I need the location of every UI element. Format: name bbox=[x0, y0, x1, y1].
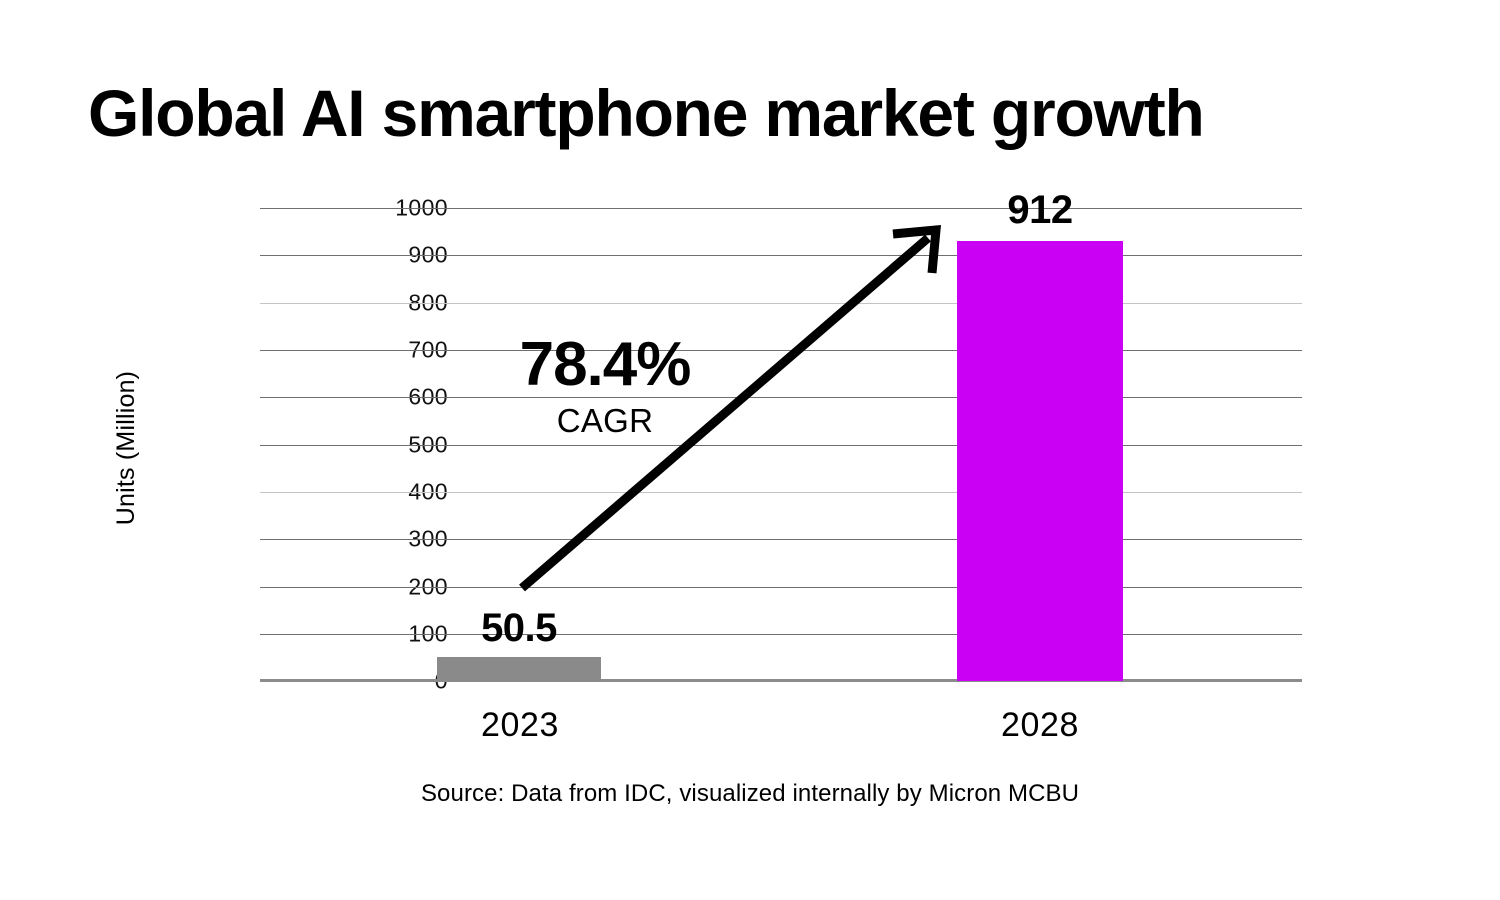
gridline-800 bbox=[260, 303, 1302, 304]
gridline-600 bbox=[260, 397, 1302, 398]
axis-baseline bbox=[260, 679, 1302, 682]
cagr-annotation: 78.4% CAGR bbox=[470, 334, 740, 437]
gridline-300 bbox=[260, 539, 1302, 540]
page-title: Global AI smartphone market growth bbox=[88, 78, 1204, 149]
gridline-200 bbox=[260, 587, 1302, 588]
bar-2023[interactable] bbox=[437, 657, 601, 681]
plot-area: 50.5 912 bbox=[260, 208, 1302, 681]
y-axis-title: Units (Million) bbox=[112, 318, 141, 578]
chart-page: Global AI smartphone market growth Units… bbox=[0, 0, 1500, 900]
x-tick-label-2023: 2023 bbox=[350, 706, 690, 745]
cagr-label: CAGR bbox=[470, 404, 740, 437]
bar-2028[interactable] bbox=[957, 241, 1123, 681]
bar-value-label-2028: 912 bbox=[930, 188, 1150, 233]
gridline-700 bbox=[260, 350, 1302, 351]
x-tick-label-2028: 2028 bbox=[870, 706, 1210, 745]
gridline-400 bbox=[260, 492, 1302, 493]
gridline-500 bbox=[260, 445, 1302, 446]
cagr-value: 78.4% bbox=[470, 334, 740, 396]
bar-value-label-2023: 50.5 bbox=[407, 606, 631, 651]
source-note: Source: Data from IDC, visualized intern… bbox=[0, 780, 1500, 808]
gridline-900 bbox=[260, 255, 1302, 256]
